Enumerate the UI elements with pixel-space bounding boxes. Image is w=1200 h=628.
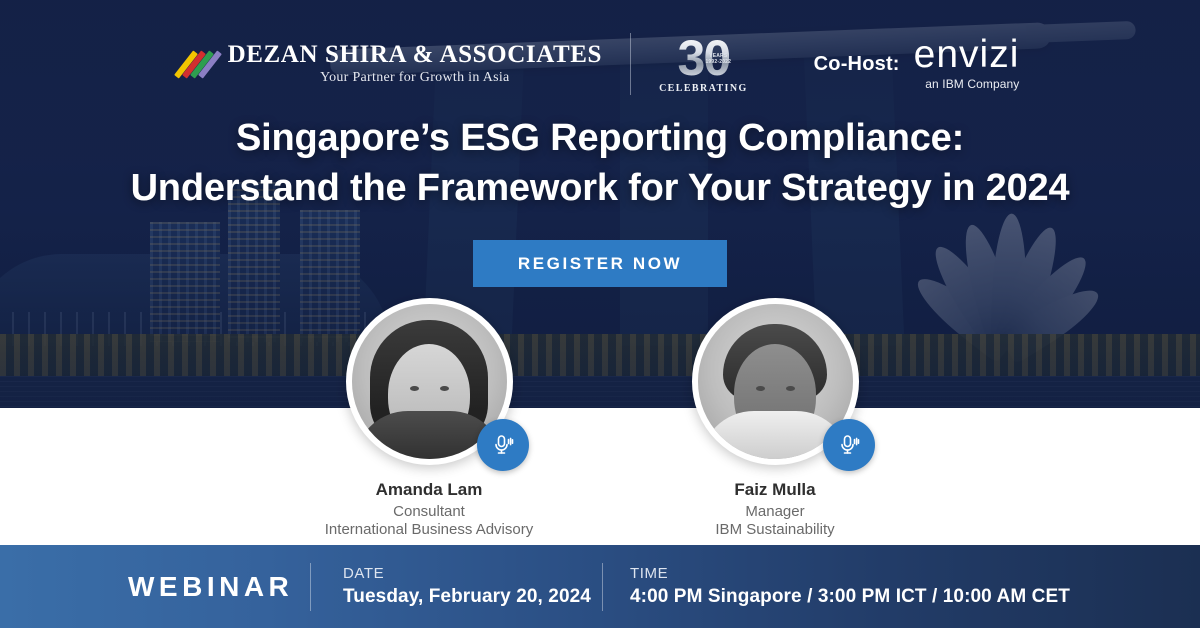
anniversary-years-text: YEARS1992-2022 (705, 54, 731, 66)
register-now-button[interactable]: REGISTER NOW (473, 240, 727, 287)
host-logo-name: DEZAN SHIRA & ASSOCIATES (228, 42, 602, 68)
footer-time-block: TIME 4:00 PM Singapore / 3:00 PM ICT / 1… (630, 565, 1070, 608)
cohost-block: Co-Host: envizi an IBM Company (814, 37, 1020, 90)
logo-divider (630, 33, 631, 95)
time-value: 4:00 PM Singapore / 3:00 PM ICT / 10:00 … (630, 586, 1070, 608)
webinar-type-label: WEBINAR (128, 571, 293, 603)
speaker-name: Amanda Lam (279, 480, 579, 500)
microphone-icon (823, 419, 875, 471)
microphone-icon (477, 419, 529, 471)
cohost-label: Co-Host: (814, 53, 900, 76)
footer-divider (602, 563, 603, 611)
dezan-shira-stripes-icon (181, 47, 215, 81)
anniversary-logo: 30 YEARS1992-2022 CELEBRATING (659, 34, 748, 94)
speaker-card: Amanda Lam Consultant International Busi… (279, 298, 579, 538)
speaker-org: International Business Advisory (279, 521, 579, 538)
speakers-section: Amanda Lam Consultant International Busi… (0, 408, 1200, 545)
logo-row: DEZAN SHIRA & ASSOCIATES Your Partner fo… (0, 28, 1200, 100)
title-line-2: Understand the Framework for Your Strate… (0, 163, 1200, 213)
footer-date-block: DATE Tuesday, February 20, 2024 (343, 565, 591, 608)
date-value: Tuesday, February 20, 2024 (343, 586, 591, 608)
envizi-logo: envizi an IBM Company (914, 37, 1020, 90)
anniversary-number-30: 30 YEARS1992-2022 (678, 34, 730, 82)
envizi-wordmark: envizi (914, 37, 1020, 72)
host-logo-tagline: Your Partner for Growth in Asia (320, 70, 509, 86)
date-label: DATE (343, 565, 591, 582)
speaker-photo-wrap (692, 298, 859, 465)
speaker-role: Manager (625, 503, 925, 520)
time-label: TIME (630, 565, 1070, 582)
footer-bar: WEBINAR DATE Tuesday, February 20, 2024 … (0, 545, 1200, 628)
speaker-card: Faiz Mulla Manager IBM Sustainability (625, 298, 925, 538)
host-logo: DEZAN SHIRA & ASSOCIATES Your Partner fo… (181, 42, 602, 86)
envizi-tagline: an IBM Company (925, 77, 1019, 91)
webinar-title: Singapore’s ESG Reporting Compliance: Un… (0, 113, 1200, 213)
title-line-1: Singapore’s ESG Reporting Compliance: (0, 113, 1200, 163)
speaker-role: Consultant (279, 503, 579, 520)
footer-divider (310, 563, 311, 611)
speaker-org: IBM Sustainability (625, 521, 925, 538)
speaker-photo-wrap (346, 298, 513, 465)
hero-banner: DEZAN SHIRA & ASSOCIATES Your Partner fo… (0, 0, 1200, 408)
speaker-name: Faiz Mulla (625, 480, 925, 500)
